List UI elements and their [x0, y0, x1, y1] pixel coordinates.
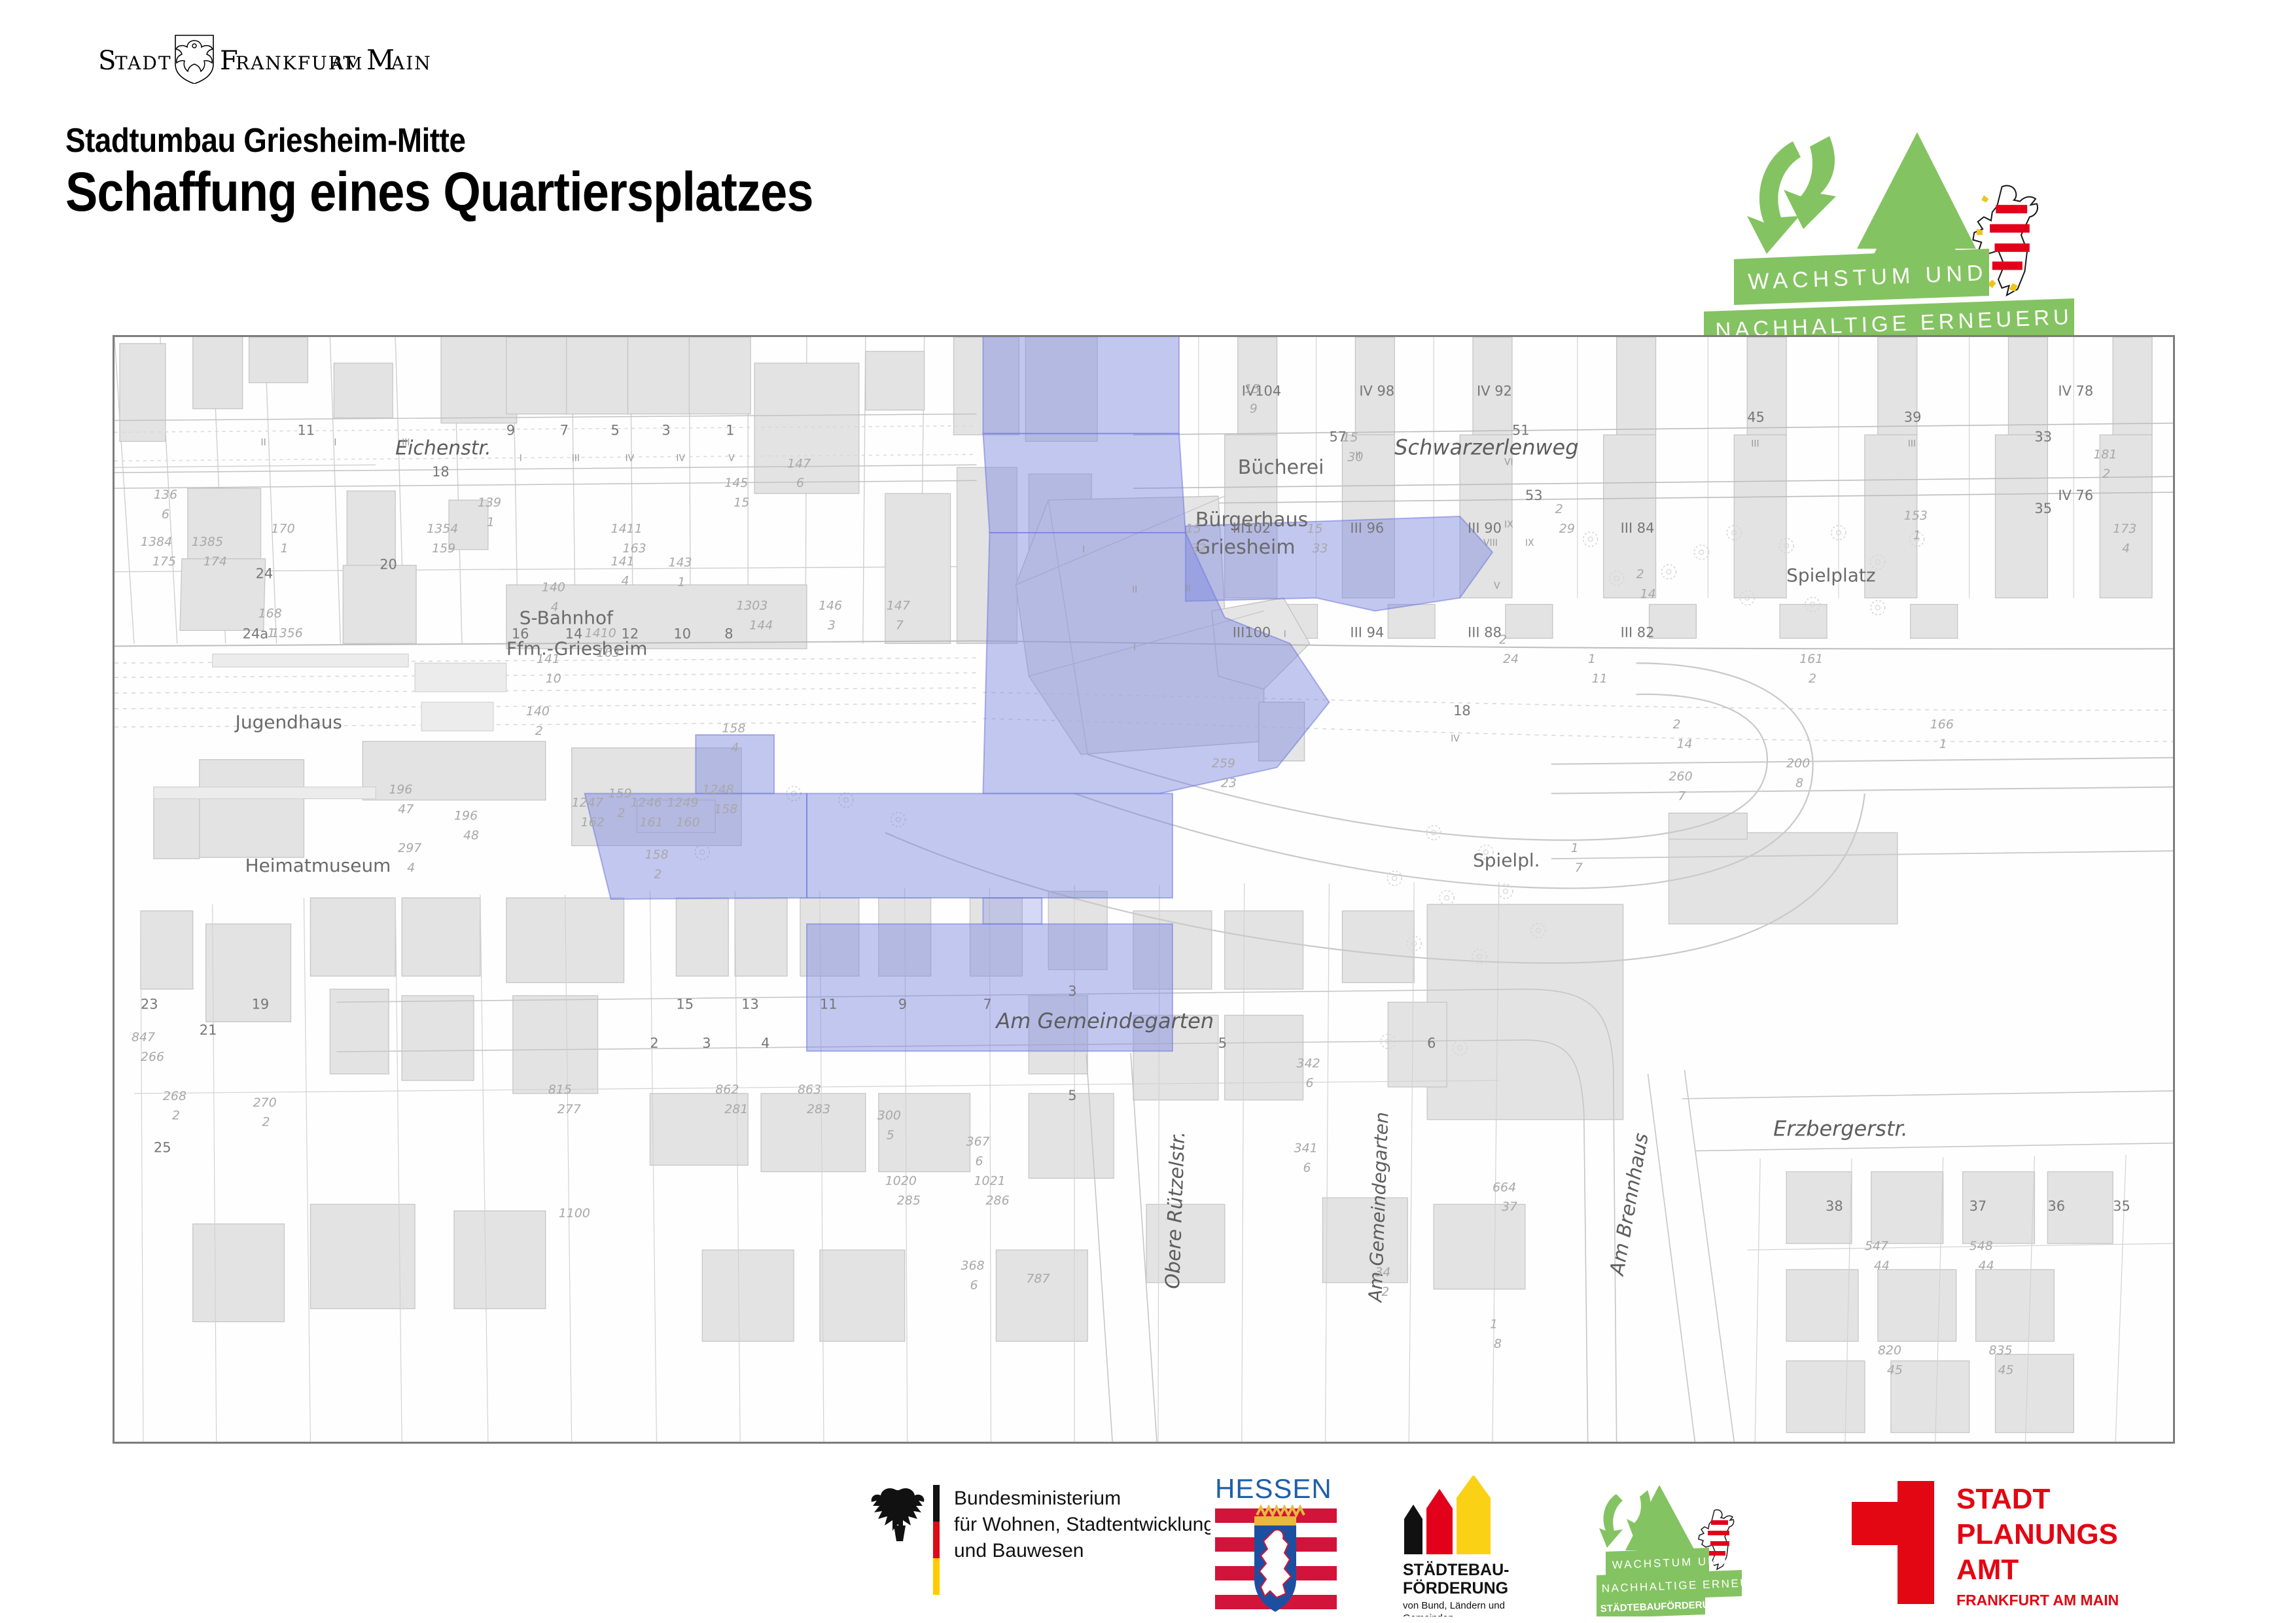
flag-gold [933, 1558, 940, 1595]
svg-text:4: 4 [407, 861, 415, 875]
svg-text:25: 25 [154, 1140, 171, 1156]
svg-text:III 94: III 94 [1350, 624, 1384, 640]
svg-text:IX: IX [1504, 520, 1513, 530]
svg-text:S: S [98, 46, 116, 76]
svg-text:23: 23 [1221, 776, 1237, 791]
svg-text:6: 6 [1303, 1160, 1311, 1175]
svg-text:147: 147 [887, 599, 910, 613]
svg-text:160: 160 [676, 815, 699, 829]
svg-text:341: 341 [1294, 1141, 1318, 1156]
svg-text:1: 1 [268, 626, 275, 640]
svg-text:15: 15 [1245, 382, 1260, 397]
svg-text:4: 4 [731, 741, 739, 755]
svg-text:847: 847 [132, 1030, 155, 1044]
svg-text:19: 19 [252, 996, 270, 1012]
svg-text:45: 45 [1887, 1363, 1903, 1377]
svg-text:20: 20 [380, 557, 397, 573]
svg-text:1020: 1020 [885, 1173, 917, 1188]
bmwsb-line-3: und Bauwesen [954, 1540, 1084, 1561]
svg-text:140: 140 [542, 580, 565, 595]
svg-text:136: 136 [154, 488, 177, 502]
svg-text:13: 13 [741, 996, 759, 1012]
svg-text:159: 159 [432, 541, 455, 556]
svg-text:44: 44 [1874, 1258, 1890, 1273]
svg-text:III: III [402, 437, 410, 448]
svg-text:1249: 1249 [667, 795, 698, 810]
svg-text:24: 24 [256, 566, 274, 582]
svg-text:4: 4 [622, 574, 629, 588]
svg-text:1246: 1246 [630, 795, 662, 810]
svg-text:147: 147 [787, 456, 811, 471]
svg-text:141: 141 [611, 554, 635, 569]
svg-text:21: 21 [200, 1022, 217, 1038]
svg-text:I: I [1133, 642, 1136, 652]
svg-text:10: 10 [546, 671, 561, 686]
place-label-heimatmuseum: Heimatmuseum [245, 855, 391, 876]
svg-text:I: I [334, 437, 336, 448]
svg-text:24a: 24a [243, 626, 269, 641]
svg-text:1: 1 [487, 515, 495, 529]
svg-text:166: 166 [1930, 717, 1954, 732]
svg-text:7: 7 [1575, 861, 1583, 875]
svg-text:48: 48 [463, 828, 479, 842]
svg-text:5: 5 [611, 422, 620, 438]
svg-text:143: 143 [668, 556, 692, 570]
svg-text:45: 45 [1747, 410, 1765, 425]
svg-text:IV 76: IV 76 [2058, 488, 2093, 503]
svg-text:367: 367 [966, 1135, 990, 1149]
svg-text:146: 146 [819, 599, 842, 613]
svg-text:181: 181 [2093, 447, 2117, 461]
svg-text:15: 15 [1342, 430, 1358, 444]
spa-line-3: AMT [1956, 1554, 2019, 1586]
svg-text:45: 45 [1998, 1363, 2014, 1377]
svg-text:11: 11 [1592, 671, 1608, 686]
svg-text:1411: 1411 [611, 522, 643, 536]
svg-text:3: 3 [662, 422, 670, 438]
svg-text:2: 2 [2102, 467, 2110, 481]
svg-text:4: 4 [551, 600, 559, 615]
svg-text:1247: 1247 [572, 795, 603, 810]
recycling-arrow-icon [1747, 136, 1836, 254]
street-label-erzbergerstr: Erzbergerstr. [1773, 1116, 1908, 1141]
svg-text:III: III [572, 453, 580, 463]
svg-text:161: 161 [639, 815, 663, 829]
svg-text:300: 300 [877, 1109, 901, 1123]
hessen-wordmark: HESSEN [1215, 1476, 1332, 1504]
svg-text:5: 5 [1068, 1088, 1076, 1103]
svg-text:1: 1 [1490, 1317, 1498, 1332]
svg-text:664: 664 [1492, 1180, 1516, 1194]
svg-text:I: I [1284, 629, 1286, 639]
hessen-flag-icon [1215, 1507, 1337, 1613]
city-of-frankfurt-logo: S TADT F RANKFURT AM M AIN [98, 31, 517, 84]
svg-text:1021: 1021 [974, 1173, 1005, 1188]
svg-text:196: 196 [389, 783, 412, 797]
svg-text:175: 175 [152, 554, 176, 569]
spa-line-1: STADT [1956, 1483, 2051, 1515]
svg-text:M: M [366, 44, 395, 76]
stbf-sub-2: Gemeinden [1403, 1613, 1454, 1616]
stbf-line-1: STÄDTEBAU- [1403, 1561, 1510, 1579]
bmwsb-logo: Bundesministerium für Wohnen, Stadtentwi… [870, 1476, 1210, 1610]
svg-text:4: 4 [761, 1035, 769, 1051]
svg-text:33: 33 [1313, 541, 1328, 556]
svg-text:862: 862 [715, 1082, 739, 1097]
svg-text:14: 14 [1676, 737, 1692, 751]
svg-text:145: 145 [724, 476, 748, 490]
svg-text:35: 35 [2113, 1198, 2130, 1214]
svg-text:II: II [1355, 450, 1360, 461]
svg-text:268: 268 [163, 1089, 186, 1103]
svg-text:7: 7 [1678, 789, 1686, 803]
svg-text:1: 1 [726, 422, 734, 438]
svg-text:277: 277 [557, 1102, 581, 1116]
svg-text:2: 2 [654, 867, 662, 882]
street-label-am-gemeindegarten: Am Gemeindegarten [995, 1008, 1214, 1033]
svg-text:548: 548 [1969, 1239, 1993, 1253]
svg-text:260: 260 [1669, 770, 1692, 784]
svg-text:III 96: III 96 [1350, 520, 1384, 536]
svg-text:259: 259 [1212, 757, 1235, 771]
svg-text:VIII: VIII [1483, 538, 1498, 548]
svg-text:15: 15 [676, 996, 694, 1012]
svg-text:39: 39 [1904, 410, 1922, 425]
bmwsb-line-2: für Wohnen, Stadtentwicklung [954, 1514, 1210, 1535]
svg-text:37: 37 [1969, 1198, 1987, 1214]
svg-text:3: 3 [828, 618, 836, 632]
svg-text:173: 173 [2113, 522, 2136, 536]
svg-text:547: 547 [1865, 1239, 1888, 1253]
svg-text:1303: 1303 [736, 599, 768, 613]
svg-text:IX: IX [1525, 538, 1534, 548]
svg-text:297: 297 [398, 841, 421, 855]
svg-text:II: II [1132, 585, 1137, 596]
svg-text:1100: 1100 [559, 1206, 590, 1221]
svg-text:835: 835 [1989, 1343, 2013, 1357]
svg-text:III 90: III 90 [1468, 520, 1502, 536]
svg-text:8: 8 [1795, 776, 1803, 791]
svg-text:2: 2 [650, 1035, 658, 1051]
svg-text:18: 18 [1453, 703, 1471, 719]
svg-text:342: 342 [1297, 1056, 1320, 1071]
svg-text:283: 283 [807, 1102, 830, 1116]
svg-text:286: 286 [985, 1193, 1009, 1207]
svg-text:196: 196 [454, 808, 478, 823]
svg-text:IV: IV [1451, 734, 1460, 744]
svg-text:IV 78: IV 78 [2058, 383, 2093, 399]
svg-text:14: 14 [565, 626, 583, 641]
place-label-griesheim: Griesheim [1195, 536, 1296, 559]
svg-text:V: V [1494, 581, 1500, 592]
place-label-spielpl: Spielpl. [1473, 849, 1540, 871]
svg-text:1: 1 [1571, 841, 1579, 855]
spa-line-2: PLANUNGS [1956, 1518, 2118, 1550]
svg-text:170: 170 [272, 522, 295, 536]
svg-text:III 82: III 82 [1621, 624, 1655, 640]
svg-text:I: I [520, 453, 522, 463]
svg-text:163: 163 [597, 645, 620, 660]
svg-text:7: 7 [896, 618, 904, 632]
svg-text:6: 6 [1427, 1035, 1436, 1051]
svg-text:III: III [1751, 438, 1759, 449]
svg-text:7: 7 [983, 996, 991, 1012]
svg-text:AIN: AIN [391, 52, 432, 74]
svg-text:281: 281 [724, 1102, 748, 1116]
svg-text:140: 140 [526, 704, 550, 719]
stbf-sub-1: von Bund, Ländern und [1403, 1600, 1505, 1611]
svg-text:1384: 1384 [141, 535, 172, 549]
svg-text:III: III [1908, 438, 1916, 449]
bundesadler-icon [872, 1488, 925, 1541]
svg-text:6: 6 [162, 507, 169, 522]
svg-text:15: 15 [1307, 522, 1323, 536]
svg-text:9: 9 [1250, 402, 1258, 416]
svg-text:2: 2 [618, 806, 626, 820]
three-houses-icon [1404, 1476, 1491, 1554]
svg-text:6: 6 [796, 476, 804, 490]
svg-text:1354: 1354 [427, 522, 458, 536]
svg-text:36: 36 [2047, 1198, 2065, 1214]
svg-text:11: 11 [820, 996, 838, 1012]
subtitle: Stadtumbau Griesheim-Mitte [65, 121, 465, 160]
svg-text:1356: 1356 [272, 626, 303, 640]
svg-text:38: 38 [1826, 1198, 1843, 1214]
svg-text:15: 15 [733, 495, 749, 510]
svg-text:158: 158 [645, 847, 668, 862]
svg-text:IV: IV [676, 453, 685, 463]
svg-text:2: 2 [1555, 502, 1563, 516]
svg-text:14: 14 [1640, 587, 1656, 601]
svg-text:3: 3 [702, 1035, 711, 1051]
svg-text:162: 162 [581, 815, 605, 829]
spa-mark-icon [1852, 1481, 1934, 1604]
svg-text:141: 141 [537, 652, 560, 666]
footer-logo-strip: Bundesministerium für Wohnen, Stadtentwi… [0, 1476, 2296, 1613]
svg-text:163: 163 [623, 541, 646, 556]
svg-text:2: 2 [535, 724, 543, 738]
svg-text:200: 200 [1786, 757, 1810, 771]
svg-text:18: 18 [432, 464, 450, 480]
svg-text:139: 139 [478, 495, 501, 510]
svg-text:158: 158 [722, 721, 745, 736]
badge-banner-1: WACHSTUM UND [1734, 249, 1989, 305]
flag-black [933, 1485, 940, 1522]
svg-text:23: 23 [141, 996, 158, 1012]
svg-text:VI: VI [1504, 457, 1513, 467]
spa-sub: FRANKFURT AM MAIN [1956, 1592, 2119, 1609]
svg-text:29: 29 [1559, 522, 1575, 536]
svg-text:266: 266 [141, 1050, 164, 1064]
place-label-jugendhaus: Jugendhaus [234, 711, 342, 733]
svg-text:1: 1 [1913, 528, 1921, 543]
svg-text:10: 10 [673, 626, 691, 641]
svg-text:16: 16 [512, 626, 529, 641]
svg-text:1: 1 [1588, 652, 1596, 666]
svg-text:III 88: III 88 [1468, 624, 1502, 640]
svg-text:2: 2 [262, 1115, 270, 1130]
staedtebaufoerderung-logo: STÄDTEBAU- FÖRDERUNG von Bund, Ländern u… [1387, 1476, 1564, 1620]
svg-text:787: 787 [1026, 1272, 1050, 1286]
svg-text:1: 1 [677, 575, 685, 590]
svg-text:863: 863 [798, 1082, 821, 1097]
svg-text:2: 2 [172, 1109, 180, 1123]
svg-text:35: 35 [2034, 501, 2052, 516]
svg-text:815: 815 [548, 1082, 572, 1097]
svg-text:II: II [1186, 584, 1191, 594]
svg-text:153: 153 [1904, 508, 1928, 523]
svg-text:5: 5 [887, 1128, 894, 1143]
cadastral-map[interactable]: Eichenstr. Schwarzerlenweg Erzbergerstr.… [113, 335, 2175, 1444]
stbf-line-2: FÖRDERUNG [1403, 1578, 1508, 1597]
flag-red [933, 1522, 940, 1558]
svg-text:159: 159 [609, 787, 632, 801]
frankfurt-eagle-shield [175, 35, 213, 84]
svg-text:51: 51 [1512, 422, 1530, 438]
wachstum-banner-3: STÄDTEBAUFÖRDERUNG HESSEN [1597, 1594, 1767, 1616]
place-label-spielplatz: Spielplatz [1786, 565, 1875, 586]
svg-text:34: 34 [1375, 1265, 1390, 1279]
svg-text:32: 32 [1191, 541, 1207, 556]
hessen-logo: HESSEN [1214, 1476, 1338, 1620]
svg-text:285: 285 [897, 1193, 921, 1207]
svg-text:I: I [1082, 544, 1085, 555]
svg-text:8: 8 [1494, 1337, 1502, 1351]
svg-text:144: 144 [749, 618, 773, 632]
svg-text:47: 47 [398, 802, 414, 816]
svg-text:174: 174 [203, 554, 227, 569]
svg-text:53: 53 [1525, 488, 1543, 503]
svg-text:1410: 1410 [585, 626, 616, 640]
svg-text:2: 2 [1636, 567, 1644, 582]
svg-text:6: 6 [1306, 1076, 1314, 1090]
svg-text:33: 33 [2034, 429, 2052, 444]
svg-text:3: 3 [1068, 983, 1076, 999]
svg-text:168: 168 [258, 606, 282, 620]
svg-text:820: 820 [1878, 1343, 1901, 1357]
svg-text:37: 37 [1502, 1200, 1517, 1214]
svg-text:11: 11 [297, 422, 315, 438]
svg-text:AM: AM [330, 54, 363, 74]
svg-text:1248: 1248 [702, 783, 733, 797]
svg-text:6: 6 [970, 1278, 978, 1293]
svg-text:9: 9 [898, 996, 907, 1012]
svg-text:III 84: III 84 [1621, 520, 1655, 536]
svg-text:368: 368 [961, 1258, 985, 1273]
svg-text:1385: 1385 [192, 535, 223, 549]
street-label-schwarzerlenweg: Schwarzerlenweg [1394, 435, 1578, 459]
svg-text:270: 270 [253, 1096, 277, 1110]
svg-text:IV: IV [626, 453, 635, 463]
svg-text:5: 5 [1218, 1035, 1227, 1051]
svg-text:4: 4 [2122, 541, 2130, 556]
svg-text:1: 1 [1939, 737, 1947, 751]
svg-text:III102: III102 [1233, 520, 1271, 536]
svg-text:1: 1 [281, 541, 289, 556]
svg-text:2: 2 [1499, 632, 1507, 647]
svg-text:IV 92: IV 92 [1477, 383, 1512, 399]
stadtplanungsamt-logo: STADT PLANUNGS AMT FRANKFURT AM MAIN [1852, 1476, 2192, 1620]
svg-text:II: II [261, 437, 266, 448]
svg-text:8: 8 [724, 626, 733, 641]
svg-text:158: 158 [714, 802, 737, 816]
svg-text:III100: III100 [1233, 624, 1271, 640]
svg-text:161: 161 [1799, 652, 1823, 666]
place-label-buecherei: Bücherei [1238, 456, 1324, 479]
svg-text:2: 2 [1809, 671, 1816, 686]
svg-text:TADT: TADT [115, 52, 172, 74]
svg-text:44: 44 [1979, 1258, 1994, 1273]
svg-text:6: 6 [975, 1154, 983, 1169]
svg-text:12: 12 [622, 626, 639, 641]
svg-text:24: 24 [1503, 652, 1519, 666]
svg-text:9: 9 [506, 422, 515, 438]
svg-text:IV 98: IV 98 [1359, 383, 1394, 399]
bmwsb-line-1: Bundesministerium [954, 1488, 1121, 1509]
svg-text:V: V [728, 453, 735, 463]
svg-text:2: 2 [1381, 1285, 1389, 1299]
wachstum-logo-small: WACHSTUM UND NACHHALTIGE ERNEUERUNG STÄD… [1597, 1476, 1832, 1620]
svg-text:15: 15 [1186, 522, 1201, 536]
page-title: Schaffung eines Quartiersplatzes [65, 160, 813, 224]
svg-text:2: 2 [1672, 717, 1680, 732]
svg-text:7: 7 [560, 422, 569, 438]
